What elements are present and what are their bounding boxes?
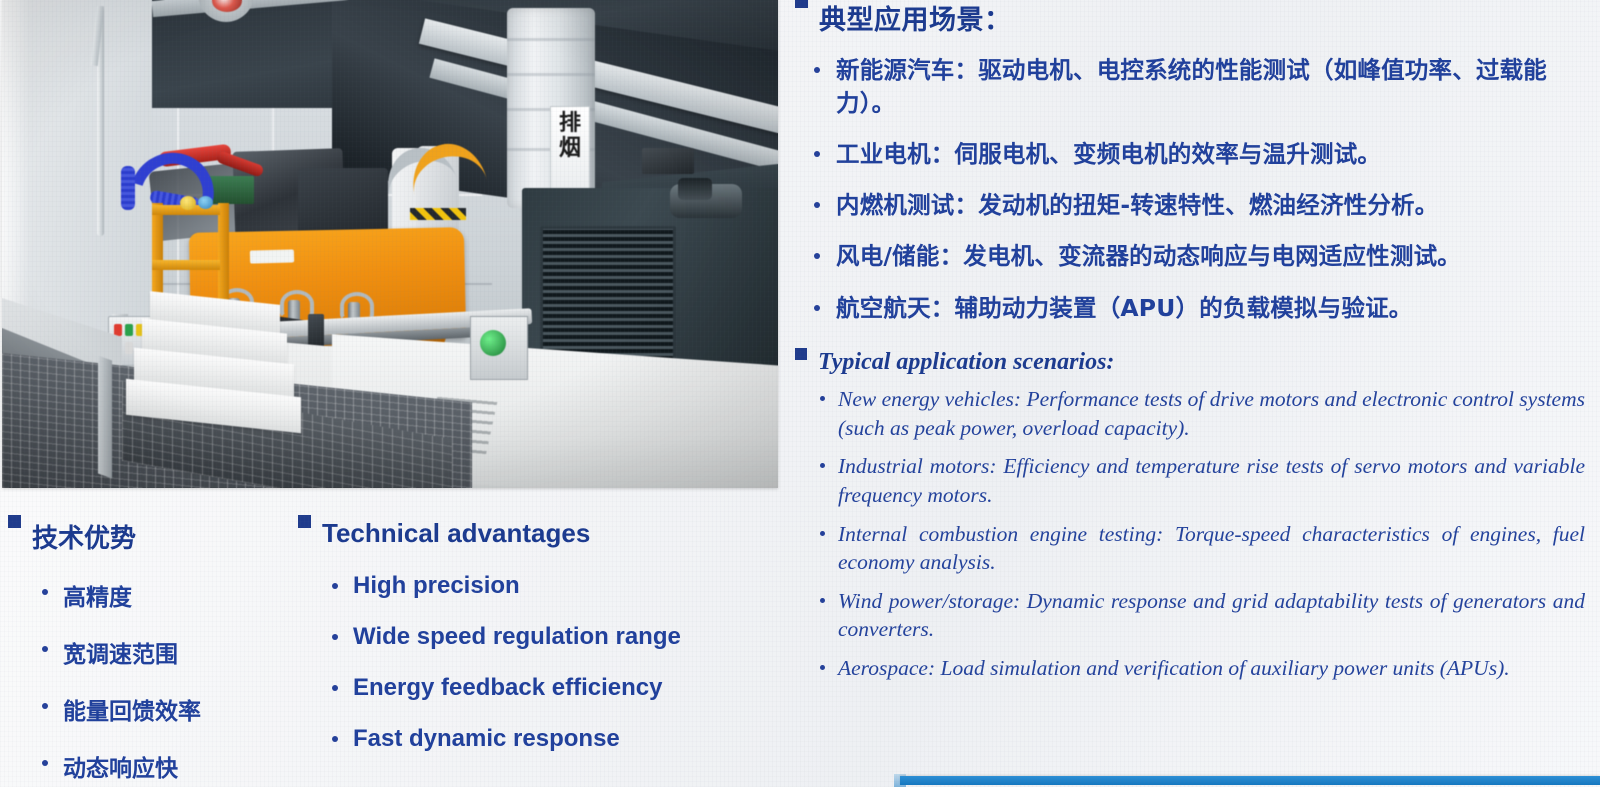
dot-bullet-icon [332,583,338,589]
list-item: Industrial motors: Efficiency and temper… [795,452,1595,509]
scenarios-en-item-label: Wind power/storage: Dynamic response and… [838,587,1585,644]
list-item: Wide speed regulation range [298,623,768,651]
list-item: 航空航天：辅助动力装置（APU）的负载模拟与验证。 [795,292,1595,325]
photo-rail-cap [198,196,213,209]
photo-green-lamp [480,330,506,356]
list-item: 新能源汽车：驱动电机、电控系统的性能测试（如峰值功率、过载能力）。 [795,54,1595,121]
slide-canvas: 排烟 [0,0,1600,787]
dot-bullet-icon [42,589,48,595]
square-bullet-icon [298,515,311,528]
square-bullet-icon [8,515,21,528]
photo-duct-ring [507,38,595,41]
list-item: 能量回馈效率 [8,692,308,726]
dot-bullet-icon [332,685,338,691]
advantages-english-block: Technical advantages High precision Wide… [298,518,768,753]
dot-bullet-icon [332,736,338,742]
advantages-en-heading-label: Technical advantages [322,518,590,549]
facility-photo: 排烟 [2,0,778,488]
dot-bullet-icon [814,305,820,311]
photo-indicator-light [125,342,133,354]
scenarios-cn-item-label: 风电/储能：发电机、变流器的动态响应与电网适应性测试。 [836,240,1595,273]
scenarios-en-item-label: Aerospace: Load simulation and verificat… [838,654,1585,683]
list-item: 高精度 [8,578,308,612]
advantages-cn-item-label: 高精度 [63,578,132,612]
advantages-chinese-block: 技术优势 高精度 宽调速范围 能量回馈效率 动态响应快 [8,518,308,783]
bottom-accent-bar [900,776,1600,785]
list-item: Aerospace: Load simulation and verificat… [795,654,1595,683]
list-item: Internal combustion engine testing: Torq… [795,520,1595,577]
list-item: 宽调速范围 [8,635,308,669]
dot-bullet-icon [820,531,825,536]
advantages-en-item-label: Wide speed regulation range [353,623,681,651]
scenarios-en-item-label: Industrial motors: Efficiency and temper… [838,452,1585,509]
scenarios-en-item-label: Internal combustion engine testing: Torq… [838,520,1585,577]
photo-machine-label [250,249,294,263]
advantages-en-item-label: Energy feedback efficiency [353,674,662,702]
scenarios-en-heading-label: Typical application scenarios: [818,349,1114,376]
list-item: 动态响应快 [8,749,308,783]
dot-bullet-icon [820,598,825,603]
advantages-cn-heading-label: 技术优势 [32,518,136,555]
advantages-en-heading: Technical advantages [298,518,768,549]
advantages-cn-item-label: 能量回馈效率 [63,692,201,726]
dot-bullet-icon [820,665,825,670]
photo-cabinet-handle [678,178,712,200]
list-item: High precision [298,572,768,600]
dot-bullet-icon [820,396,825,401]
dot-bullet-icon [42,703,48,709]
dot-bullet-icon [814,253,820,259]
dot-bullet-icon [332,634,338,640]
advantages-cn-item-label: 动态响应快 [63,749,178,783]
scenarios-cn-item-label: 工业电机：伺服电机、变频电机的效率与温升测试。 [836,138,1595,171]
advantages-en-item-label: Fast dynamic response [353,725,620,753]
scenarios-cn-item-label: 新能源汽车：驱动电机、电控系统的性能测试（如峰值功率、过载能力）。 [836,54,1595,121]
photo-safety-rail [152,260,220,270]
square-bullet-icon [795,348,807,360]
square-bullet-icon [795,0,808,8]
photo-green-module [208,176,254,204]
list-item: 风电/储能：发电机、变流器的动态响应与电网适应性测试。 [795,240,1595,273]
advantages-cn-heading: 技术优势 [8,518,308,555]
list-item: New energy vehicles: Performance tests o… [795,385,1595,442]
dot-bullet-icon [42,646,48,652]
list-item: 内燃机测试：发动机的扭矩-转速特性、燃油经济性分析。 [795,189,1595,222]
dot-bullet-icon [820,463,825,468]
photo-duct-ring [507,73,595,76]
scenarios-en-heading: Typical application scenarios: [795,349,1595,376]
photo-rail-cap [180,196,196,210]
photo-hazard-stripe [410,208,466,220]
scenarios-cn-item-label: 航空航天：辅助动力装置（APU）的负载模拟与验证。 [836,292,1595,325]
list-item: Fast dynamic response [298,725,768,753]
dot-bullet-icon [814,67,820,73]
list-item: Wind power/storage: Dynamic response and… [795,587,1595,644]
scenarios-en-item-label: New energy vehicles: Performance tests o… [838,385,1585,442]
photo-fixture [308,314,324,348]
scenarios-cn-heading: 典型应用场景： [795,0,1595,37]
photo-stair-stringer [98,355,112,478]
dot-bullet-icon [814,202,820,208]
list-item: Energy feedback efficiency [298,674,768,702]
list-item: 工业电机：伺服电机、变频电机的效率与温升测试。 [795,138,1595,171]
photo-indicator-light [125,324,133,336]
scenarios-cn-item-label: 内燃机测试：发动机的扭矩-转速特性、燃油经济性分析。 [836,189,1595,222]
scenarios-cn-heading-label: 典型应用场景： [819,0,1012,37]
photo-blue-hose [121,166,135,210]
scenarios-column: 典型应用场景： 新能源汽车：驱动电机、电控系统的性能测试（如峰值功率、过载能力）… [795,0,1595,787]
advantages-en-item-label: High precision [353,572,520,600]
dot-bullet-icon [814,151,820,157]
dot-bullet-icon [42,760,48,766]
photo-cabinet-fitting [642,148,694,174]
advantages-cn-item-label: 宽调速范围 [63,635,178,669]
